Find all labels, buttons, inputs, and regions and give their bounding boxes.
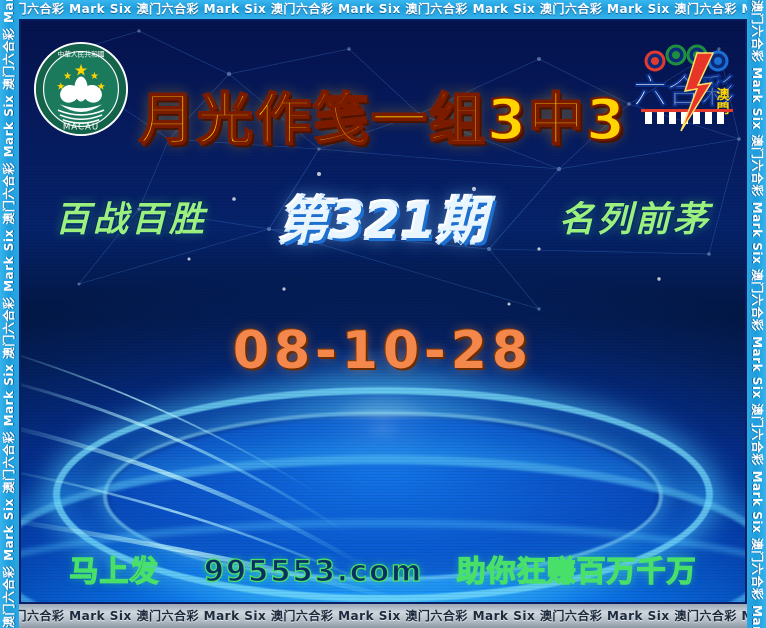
lottery-poster: 中華人民共和國 MACAU bbox=[0, 0, 766, 628]
page-title: 月光作笺一组3中3 bbox=[19, 75, 747, 156]
marquee-text-right: 澳门六合彩 Mark Six 澳门六合彩 Mark Six 澳门六合彩 Mark… bbox=[747, 0, 766, 628]
footer-prefix: 马上发 bbox=[69, 554, 159, 588]
poster-artwork: 中華人民共和國 MACAU bbox=[19, 19, 747, 604]
footer-suffix: 助你狂赚百万千万 bbox=[457, 554, 697, 588]
marquee-border-right: 澳门六合彩 Mark Six 澳门六合彩 Mark Six 澳门六合彩 Mark… bbox=[747, 0, 766, 628]
marquee-text-left: 澳门六合彩 Mark Six 澳门六合彩 Mark Six 澳门六合彩 Mark… bbox=[0, 0, 19, 628]
marquee-border-left: 澳门六合彩 Mark Six 澳门六合彩 Mark Six 澳门六合彩 Mark… bbox=[0, 0, 19, 628]
issue-number: 第321期 bbox=[278, 181, 487, 253]
slogan-left: 百战百胜 bbox=[55, 191, 207, 242]
marquee-border-bottom: 澳门六合彩 Mark Six 澳门六合彩 Mark Six 澳门六合彩 Mark… bbox=[0, 604, 766, 628]
footer-promo: 马上发 995553.com 助你狂赚百万千万 bbox=[19, 548, 747, 590]
marquee-text-top: 澳门六合彩 Mark Six 澳门六合彩 Mark Six 澳门六合彩 Mark… bbox=[2, 0, 766, 19]
marquee-text-bottom: 澳门六合彩 Mark Six 澳门六合彩 Mark Six 澳门六合彩 Mark… bbox=[2, 607, 766, 626]
svg-text:中華人民共和國: 中華人民共和國 bbox=[57, 49, 104, 58]
slogan-right: 名列前茅 bbox=[559, 191, 711, 242]
footer-domain[interactable]: 995553.com bbox=[204, 554, 423, 588]
subtitle-row: 百战百胜 第321期 名列前茅 bbox=[19, 185, 747, 249]
lottery-numbers: 08-10-28 bbox=[19, 321, 747, 381]
marquee-border-top: 澳门六合彩 Mark Six 澳门六合彩 Mark Six 澳门六合彩 Mark… bbox=[0, 0, 766, 19]
